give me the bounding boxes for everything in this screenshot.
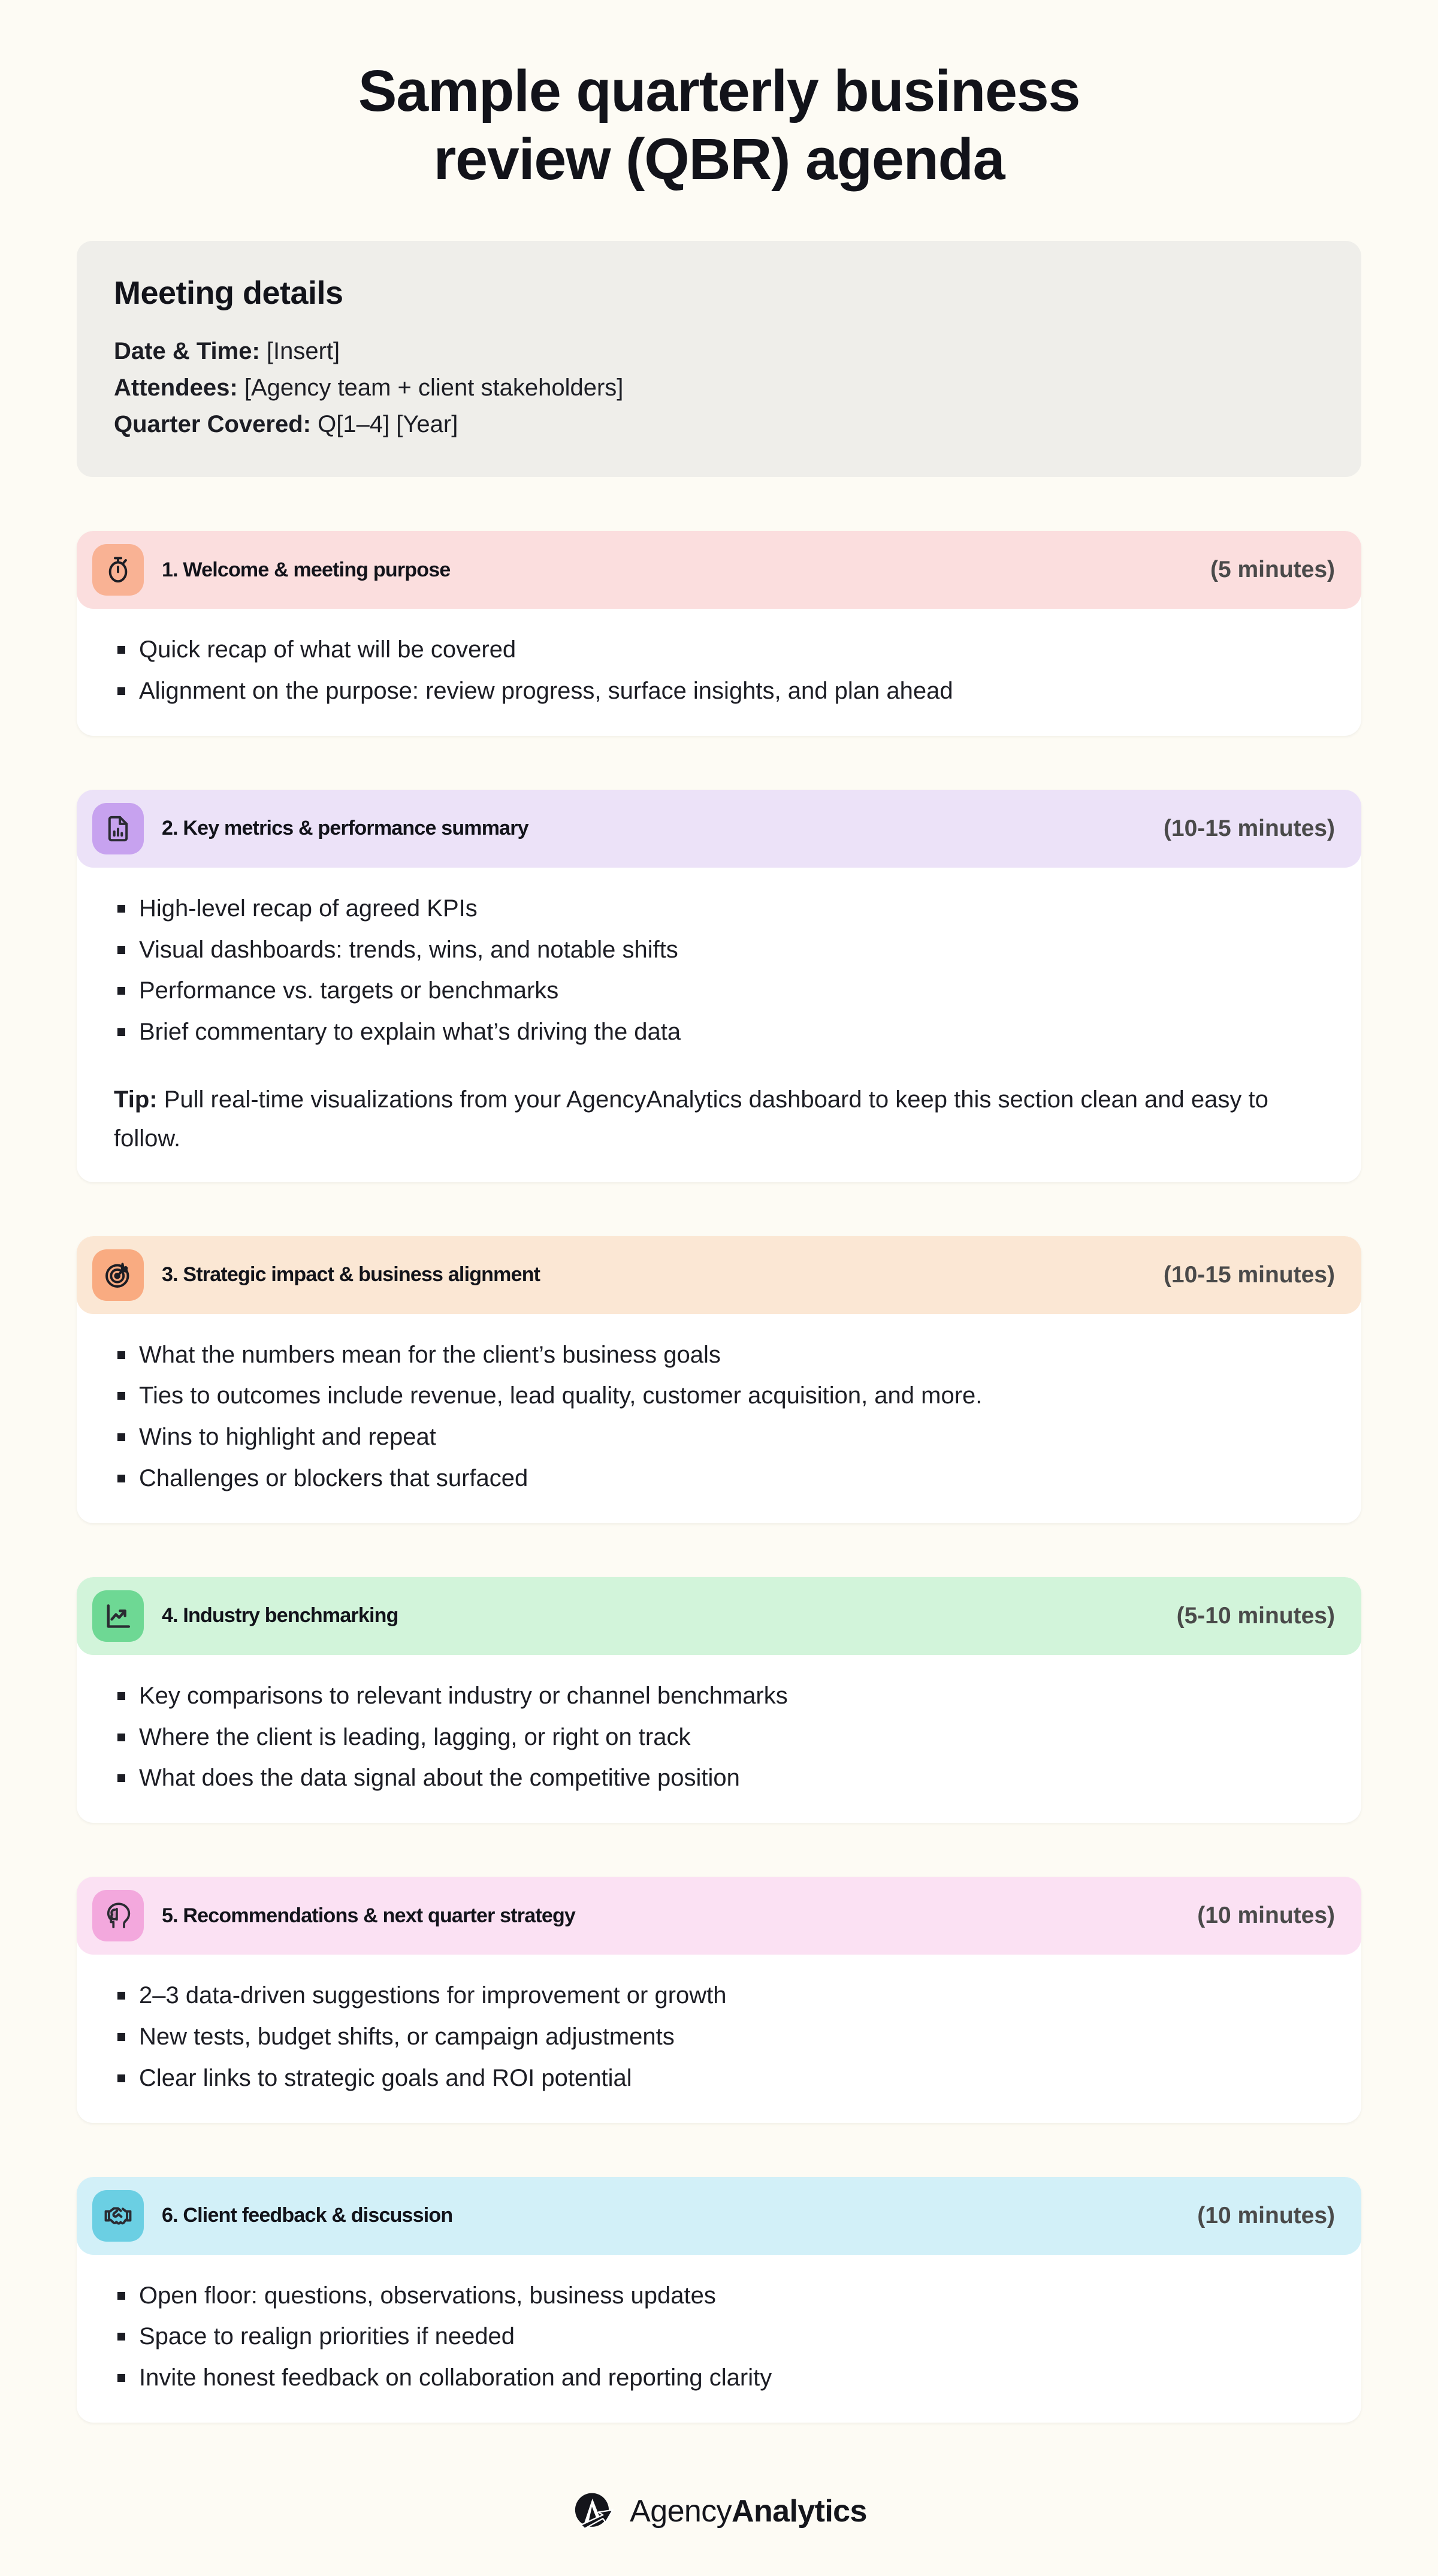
agenda-bullet-list: High-level recap of agreed KPIsVisual da…	[114, 888, 1325, 1053]
agenda-section-duration: (10-15 minutes)	[1164, 816, 1335, 842]
agenda-bullet: Open floor: questions, observations, bus…	[114, 2275, 1325, 2317]
agenda-section-body: 2–3 data-driven suggestions for improvem…	[77, 1955, 1361, 2122]
agenda-bullet: Space to realign priorities if needed	[114, 2316, 1325, 2357]
agenda-tip: Tip: Pull real-time visualizations from …	[114, 1080, 1300, 1158]
agenda-section-4: 4. Industry benchmarking(5-10 minutes)Ke…	[77, 1577, 1361, 1823]
agenda-bullet: High-level recap of agreed KPIs	[114, 888, 1325, 929]
agenda-section-header[interactable]: 3. Strategic impact & business alignment…	[77, 1236, 1361, 1314]
agenda-bullet: 2–3 data-driven suggestions for improvem…	[114, 1975, 1325, 2016]
agenda-section-duration: (10 minutes)	[1197, 2203, 1335, 2229]
page-title: Sample quarterly business review (QBR) a…	[77, 0, 1361, 194]
agenda-bullet: Brief commentary to explain what’s drivi…	[114, 1011, 1325, 1053]
meeting-details-heading: Meeting details	[114, 274, 1324, 312]
agenda-section-3: 3. Strategic impact & business alignment…	[77, 1236, 1361, 1523]
agenda-bullet: Visual dashboards: trends, wins, and not…	[114, 929, 1325, 971]
agenda-section-title: 1. Welcome & meeting purpose	[162, 558, 1198, 582]
handshake-icon	[92, 2190, 144, 2242]
agenda-section-body: Open floor: questions, observations, bus…	[77, 2255, 1361, 2423]
agenda-bullet: Alignment on the purpose: review progres…	[114, 671, 1325, 712]
agenda-page: Sample quarterly business review (QBR) a…	[0, 0, 1438, 2571]
footer-logo: AgencyAnalytics	[77, 2489, 1361, 2576]
agenda-section-title: 4. Industry benchmarking	[162, 1604, 1165, 1627]
agenda-bullet: Invite honest feedback on collaboration …	[114, 2357, 1325, 2399]
agenda-bullet-list: Quick recap of what will be coveredAlign…	[114, 629, 1325, 712]
agenda-section-header[interactable]: 5. Recommendations & next quarter strate…	[77, 1877, 1361, 1955]
document-chart-icon	[92, 803, 144, 854]
agenda-bullet: Challenges or blockers that surfaced	[114, 1458, 1325, 1499]
agenda-section-2: 2. Key metrics & performance summary(10-…	[77, 790, 1361, 1182]
meeting-detail-value: [Agency team + client stakeholders]	[244, 375, 624, 401]
agenda-sections: 1. Welcome & meeting purpose(5 minutes)Q…	[77, 531, 1361, 2423]
agenda-section-title: 3. Strategic impact & business alignment	[162, 1263, 1152, 1287]
agenda-section-header[interactable]: 2. Key metrics & performance summary(10-…	[77, 790, 1361, 868]
meeting-detail-label: Date & Time:	[114, 338, 260, 364]
target-dart-icon	[92, 1249, 144, 1301]
agenda-section-duration: (5-10 minutes)	[1177, 1603, 1335, 1629]
agenda-section-5: 5. Recommendations & next quarter strate…	[77, 1877, 1361, 2122]
agenda-section-header[interactable]: 4. Industry benchmarking(5-10 minutes)	[77, 1577, 1361, 1655]
trending-chart-icon	[92, 1590, 144, 1642]
agenda-bullet-list: Key comparisons to relevant industry or …	[114, 1675, 1325, 1799]
page-title-line-2: review (QBR) agenda	[77, 125, 1361, 194]
agenda-tip-label: Tip:	[114, 1086, 158, 1113]
agenda-bullet: Where the client is leading, lagging, or…	[114, 1717, 1325, 1758]
agenda-bullet-list: 2–3 data-driven suggestions for improvem…	[114, 1975, 1325, 2098]
agenda-bullet: Key comparisons to relevant industry or …	[114, 1675, 1325, 1717]
agenda-bullet: New tests, budget shifts, or campaign ad…	[114, 2016, 1325, 2058]
head-brain-icon	[92, 1890, 144, 1941]
agencyanalytics-logo-icon	[571, 2489, 617, 2534]
meeting-detail-row: Quarter Covered: Q[1–4] [Year]	[114, 406, 1324, 443]
agenda-section-1: 1. Welcome & meeting purpose(5 minutes)Q…	[77, 531, 1361, 736]
agenda-bullet: Ties to outcomes include revenue, lead q…	[114, 1375, 1325, 1417]
agenda-section-header[interactable]: 1. Welcome & meeting purpose(5 minutes)	[77, 531, 1361, 609]
page-title-line-1: Sample quarterly business	[358, 58, 1080, 123]
agenda-tip-text: Pull real-time visualizations from your …	[114, 1086, 1268, 1152]
agenda-section-title: 6. Client feedback & discussion	[162, 2204, 1185, 2227]
meeting-detail-value: Q[1–4] [Year]	[318, 411, 458, 437]
agenda-section-duration: (5 minutes)	[1210, 557, 1335, 583]
agenda-section-body: High-level recap of agreed KPIsVisual da…	[77, 868, 1361, 1182]
agenda-section-body: What the numbers mean for the client’s b…	[77, 1314, 1361, 1523]
brand-wordmark: AgencyAnalytics	[630, 2493, 867, 2529]
meeting-details-panel: Meeting details Date & Time: [Insert]Att…	[77, 241, 1361, 477]
agenda-bullet: What does the data signal about the comp…	[114, 1757, 1325, 1799]
agenda-bullet: Performance vs. targets or benchmarks	[114, 970, 1325, 1011]
meeting-detail-label: Attendees:	[114, 375, 238, 401]
agenda-bullet: Quick recap of what will be covered	[114, 629, 1325, 671]
brand-analytics: Analytics	[732, 2494, 867, 2529]
stopwatch-icon	[92, 544, 144, 596]
agenda-section-6: 6. Client feedback & discussion(10 minut…	[77, 2177, 1361, 2423]
agenda-section-body: Quick recap of what will be coveredAlign…	[77, 609, 1361, 736]
agenda-bullet: What the numbers mean for the client’s b…	[114, 1334, 1325, 1376]
agenda-bullet-list: Open floor: questions, observations, bus…	[114, 2275, 1325, 2399]
agenda-section-duration: (10-15 minutes)	[1164, 1262, 1335, 1288]
meeting-detail-row: Date & Time: [Insert]	[114, 333, 1324, 370]
brand-agency: Agency	[630, 2494, 732, 2529]
meeting-detail-value: [Insert]	[267, 338, 340, 364]
agenda-bullet: Wins to highlight and repeat	[114, 1417, 1325, 1458]
meeting-detail-row: Attendees: [Agency team + client stakeho…	[114, 370, 1324, 406]
agenda-section-body: Key comparisons to relevant industry or …	[77, 1655, 1361, 1823]
meeting-details-rows: Date & Time: [Insert]Attendees: [Agency …	[114, 333, 1324, 442]
agenda-bullet: Clear links to strategic goals and ROI p…	[114, 2058, 1325, 2099]
agenda-section-title: 5. Recommendations & next quarter strate…	[162, 1904, 1185, 1928]
meeting-detail-label: Quarter Covered:	[114, 411, 311, 437]
agenda-bullet-list: What the numbers mean for the client’s b…	[114, 1334, 1325, 1499]
agenda-section-duration: (10 minutes)	[1197, 1902, 1335, 1929]
agenda-section-title: 2. Key metrics & performance summary	[162, 817, 1152, 840]
agenda-section-header[interactable]: 6. Client feedback & discussion(10 minut…	[77, 2177, 1361, 2255]
